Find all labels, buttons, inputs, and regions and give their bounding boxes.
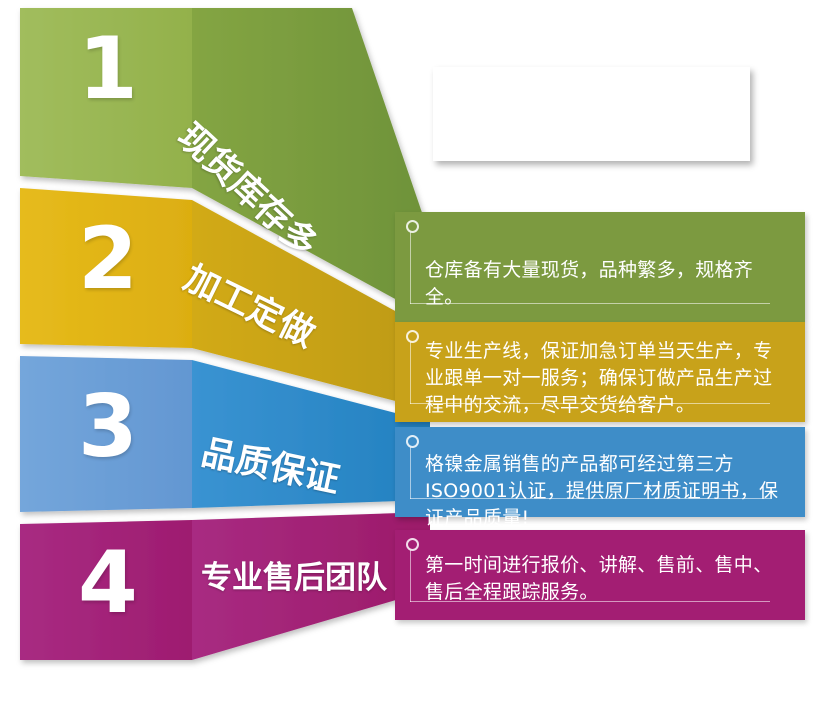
funnel-graphic: [0, 0, 430, 707]
ring-marker-icon-3: [406, 435, 419, 448]
deco-vertical-line-4: [410, 550, 411, 602]
page-title: 我们的优势: [456, 88, 726, 140]
number-block-4: [20, 520, 192, 660]
ring-marker-icon-2: [406, 330, 419, 343]
number-block-1: [20, 8, 192, 188]
description-text-4: 第一时间进行报价、讲解、售前、售中、售后全程跟踪服务。: [425, 552, 787, 606]
page-title-banner: 我们的优势: [433, 67, 750, 161]
description-text-2: 专业生产线，保证加急订单当天生产，专业跟单一对一服务；确保订做产品生产过程中的交…: [425, 338, 787, 419]
deco-vertical-line-2: [410, 342, 411, 404]
description-panel-2: 专业生产线，保证加急订单当天生产，专业跟单一对一服务；确保订做产品生产过程中的交…: [395, 322, 805, 422]
description-text-3: 格镍金属销售的产品都可经过第三方ISO9001认证，提供原厂材质证明书，保证产品…: [425, 451, 787, 532]
deco-vertical-line-1: [410, 232, 411, 304]
number-block-2: [20, 188, 192, 348]
description-text-1: 仓库备有大量现货，品种繁多，规格齐全。: [425, 257, 787, 311]
description-panel-1: 仓库备有大量现货，品种繁多，规格齐全。: [395, 212, 805, 322]
funnel-row-4: [20, 512, 430, 660]
deco-vertical-line-3: [410, 447, 411, 499]
description-panel-3: 格镍金属销售的产品都可经过第三方ISO9001认证，提供原厂材质证明书，保证产品…: [395, 427, 805, 517]
ring-marker-icon-1: [406, 220, 419, 233]
number-block-3: [20, 356, 192, 512]
description-panel-4: 第一时间进行报价、讲解、售前、售中、售后全程跟踪服务。: [395, 530, 805, 620]
infographic-canvas: 1 2 3 4 现货库存多 加工定做 品质保证 专业售后团队 我们的优势 仓库备…: [0, 0, 830, 707]
ring-marker-icon-4: [406, 538, 419, 551]
